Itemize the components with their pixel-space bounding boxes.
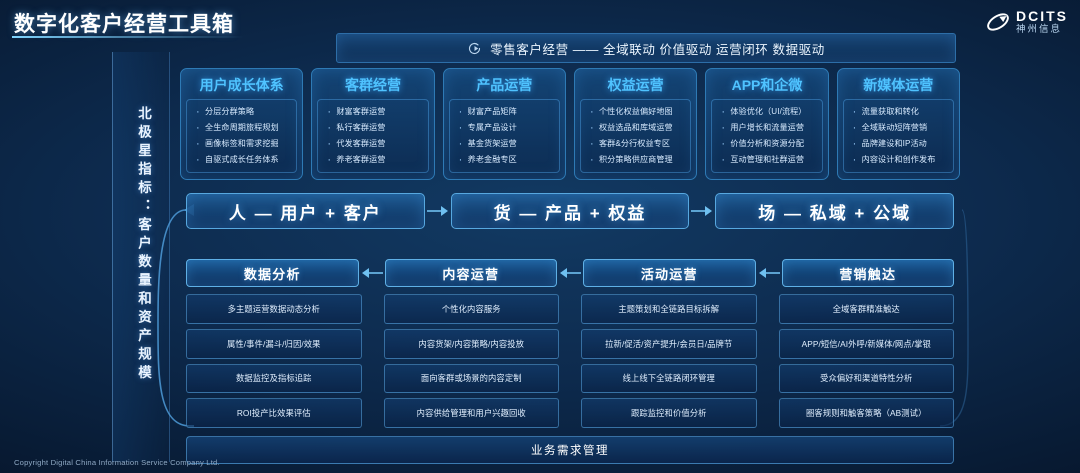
detail-cell[interactable]: 主题策划和全链路目标拆解 [581,294,757,324]
card-bullet: 内容设计和创作发布 [851,155,950,166]
card-bullet: 用户增长和流量运营 [719,123,818,134]
card-bullet: 养老客群运营 [325,155,424,166]
section-head-data-analysis[interactable]: 数据分析 [186,259,359,287]
detail-cell[interactable]: 内容货架/内容策略/内容投放 [384,329,560,359]
card-bullet: 客群&分行权益专区 [588,139,687,150]
flow-box-goods[interactable]: 货 — 产品 + 权益 [451,193,690,229]
card-bullet: 代发客群运营 [325,139,424,150]
card-bullet: 养老金融专区 [457,155,556,166]
logo-subtitle: 神州信息 [1016,25,1068,35]
card-body: 财富产品矩阵 专属产品设计 基金货架运营 养老金融专区 [449,99,560,173]
title-underline [12,36,244,38]
swirl-logo-icon [985,9,1011,35]
page-title: 数字化客户经营工具箱 [14,8,234,38]
card-bullet: 个性化权益偏好地图 [588,107,687,118]
card-bullet: 全域联动短阵营销 [851,123,950,134]
capability-card[interactable]: 用户成长体系 分层分群策略 全生命周期旅程规划 画像标签和需求挖掘 自驱式成长任… [180,68,303,180]
card-bullet: 分层分群策略 [194,107,293,118]
capability-card[interactable]: 权益运营 个性化权益偏好地图 权益选品和库域运营 客群&分行权益专区 积分策略供… [574,68,697,180]
refresh-cycle-icon [467,41,482,56]
detail-cell[interactable]: 受众偏好和渠道特性分析 [779,364,955,394]
card-body: 分层分群策略 全生命周期旅程规划 画像标签和需求挖掘 自驱式成长任务体系 [186,99,297,173]
card-title: APP和企微 [711,75,822,99]
card-title: 新媒体运营 [843,75,954,99]
section-head-marketing-reach[interactable]: 营销触达 [782,259,955,287]
detail-column: 全域客群精准触达 APP/短信/AI外呼/新媒体/网点/掌银 受众偏好和渠道特性… [779,294,955,428]
card-bullet: 互动管理和社群运营 [719,155,818,166]
capability-card-row: 用户成长体系 分层分群策略 全生命周期旅程规划 画像标签和需求挖掘 自驱式成长任… [180,68,960,180]
card-body: 体验优化（UI/流程） 用户增长和流量运营 价值分析和资源分配 互动管理和社群运… [711,99,822,173]
detail-cell[interactable]: 全域客群精准触达 [779,294,955,324]
detail-cell[interactable]: 多主题运营数据动态分析 [186,294,362,324]
arrow-right-icon [689,205,715,217]
section-head-row: 数据分析 内容运营 活动运营 营销触达 [186,259,954,287]
detail-column: 主题策划和全链路目标拆解 拉新/促活/资产提升/会员日/品牌节 线上线下全链路闭… [581,294,757,428]
card-bullet: 专属产品设计 [457,123,556,134]
brand-logo: DCITS 神州信息 [985,9,1068,35]
detail-cell[interactable]: 面向客群或场景的内容定制 [384,364,560,394]
arrow-left-icon [359,267,385,279]
card-body: 财富客群运营 私行客群运营 代发客群运营 养老客群运营 [317,99,428,173]
diagram-canvas: 数字化客户经营工具箱 DCITS 神州信息 零售客户经营 —— 全域联动 价值驱… [0,0,1080,473]
section-head-campaign-ops[interactable]: 活动运营 [583,259,756,287]
arrow-left-icon [756,267,782,279]
detail-cell[interactable]: 线上线下全链路闭环管理 [581,364,757,394]
section-head-content-ops[interactable]: 内容运营 [385,259,558,287]
card-bullet: 流量获取和转化 [851,107,950,118]
card-bullet: 画像标签和需求挖掘 [194,139,293,150]
card-bullet: 积分策略供应商管理 [588,155,687,166]
card-bullet: 基金货架运营 [457,139,556,150]
business-demand-bar[interactable]: 业务需求管理 [186,436,954,464]
detail-grid: 多主题运营数据动态分析 属性/事件/漏斗/归因/效果 数据监控及指标追踪 ROI… [186,294,954,428]
detail-cell[interactable]: 数据监控及指标追踪 [186,364,362,394]
card-title: 用户成长体系 [186,75,297,99]
card-title: 产品运营 [449,75,560,99]
detail-cell[interactable]: APP/短信/AI外呼/新媒体/网点/掌银 [779,329,955,359]
card-bullet: 权益选品和库域运营 [588,123,687,134]
headline-banner: 零售客户经营 —— 全域联动 价值驱动 运营闭环 数据驱动 [336,33,956,63]
detail-cell[interactable]: ROI投产比效果评估 [186,398,362,428]
detail-cell[interactable]: 跟踪监控和价值分析 [581,398,757,428]
card-bullet: 财富产品矩阵 [457,107,556,118]
flow-box-field[interactable]: 场 — 私域 + 公域 [715,193,954,229]
logo-wordmark: DCITS [1016,9,1068,23]
capability-card[interactable]: 新媒体运营 流量获取和转化 全域联动短阵营销 品牌建设和IP活动 内容设计和创作… [837,68,960,180]
card-title: 权益运营 [580,75,691,99]
copyright-footer: Copyright Digital China Information Serv… [14,458,220,467]
capability-card[interactable]: 产品运营 财富产品矩阵 专属产品设计 基金货架运营 养老金融专区 [443,68,566,180]
detail-cell[interactable]: 个性化内容服务 [384,294,560,324]
detail-cell[interactable]: 属性/事件/漏斗/归因/效果 [186,329,362,359]
card-body: 个性化权益偏好地图 权益选品和库域运营 客群&分行权益专区 积分策略供应商管理 [580,99,691,173]
card-body: 流量获取和转化 全域联动短阵营销 品牌建设和IP活动 内容设计和创作发布 [843,99,954,173]
card-bullet: 财富客群运营 [325,107,424,118]
detail-cell[interactable]: 内容供给管理和用户兴趣回收 [384,398,560,428]
flow-row: 人 — 用户 + 客户 货 — 产品 + 权益 场 — 私域 + 公域 [186,193,954,229]
banner-text: 零售客户经营 —— 全域联动 价值驱动 运营闭环 数据驱动 [490,39,825,58]
detail-cell[interactable]: 拉新/促活/资产提升/会员日/品牌节 [581,329,757,359]
card-title: 客群经营 [317,75,428,99]
flow-box-people[interactable]: 人 — 用户 + 客户 [186,193,425,229]
card-bullet: 体验优化（UI/流程） [719,107,818,118]
detail-column: 个性化内容服务 内容货架/内容策略/内容投放 面向客群或场景的内容定制 内容供给… [384,294,560,428]
arrow-left-icon [557,267,583,279]
card-bullet: 全生命周期旅程规划 [194,123,293,134]
capability-card[interactable]: 客群经营 财富客群运营 私行客群运营 代发客群运营 养老客群运营 [311,68,434,180]
detail-column: 多主题运营数据动态分析 属性/事件/漏斗/归因/效果 数据监控及指标追踪 ROI… [186,294,362,428]
capability-card[interactable]: APP和企微 体验优化（UI/流程） 用户增长和流量运营 价值分析和资源分配 互… [705,68,828,180]
arrow-right-icon [425,205,451,217]
detail-cell[interactable]: 圈客规则和触客策略（AB测试） [779,398,955,428]
card-bullet: 品牌建设和IP活动 [851,139,950,150]
card-bullet: 自驱式成长任务体系 [194,155,293,166]
card-bullet: 私行客群运营 [325,123,424,134]
card-bullet: 价值分析和资源分配 [719,139,818,150]
